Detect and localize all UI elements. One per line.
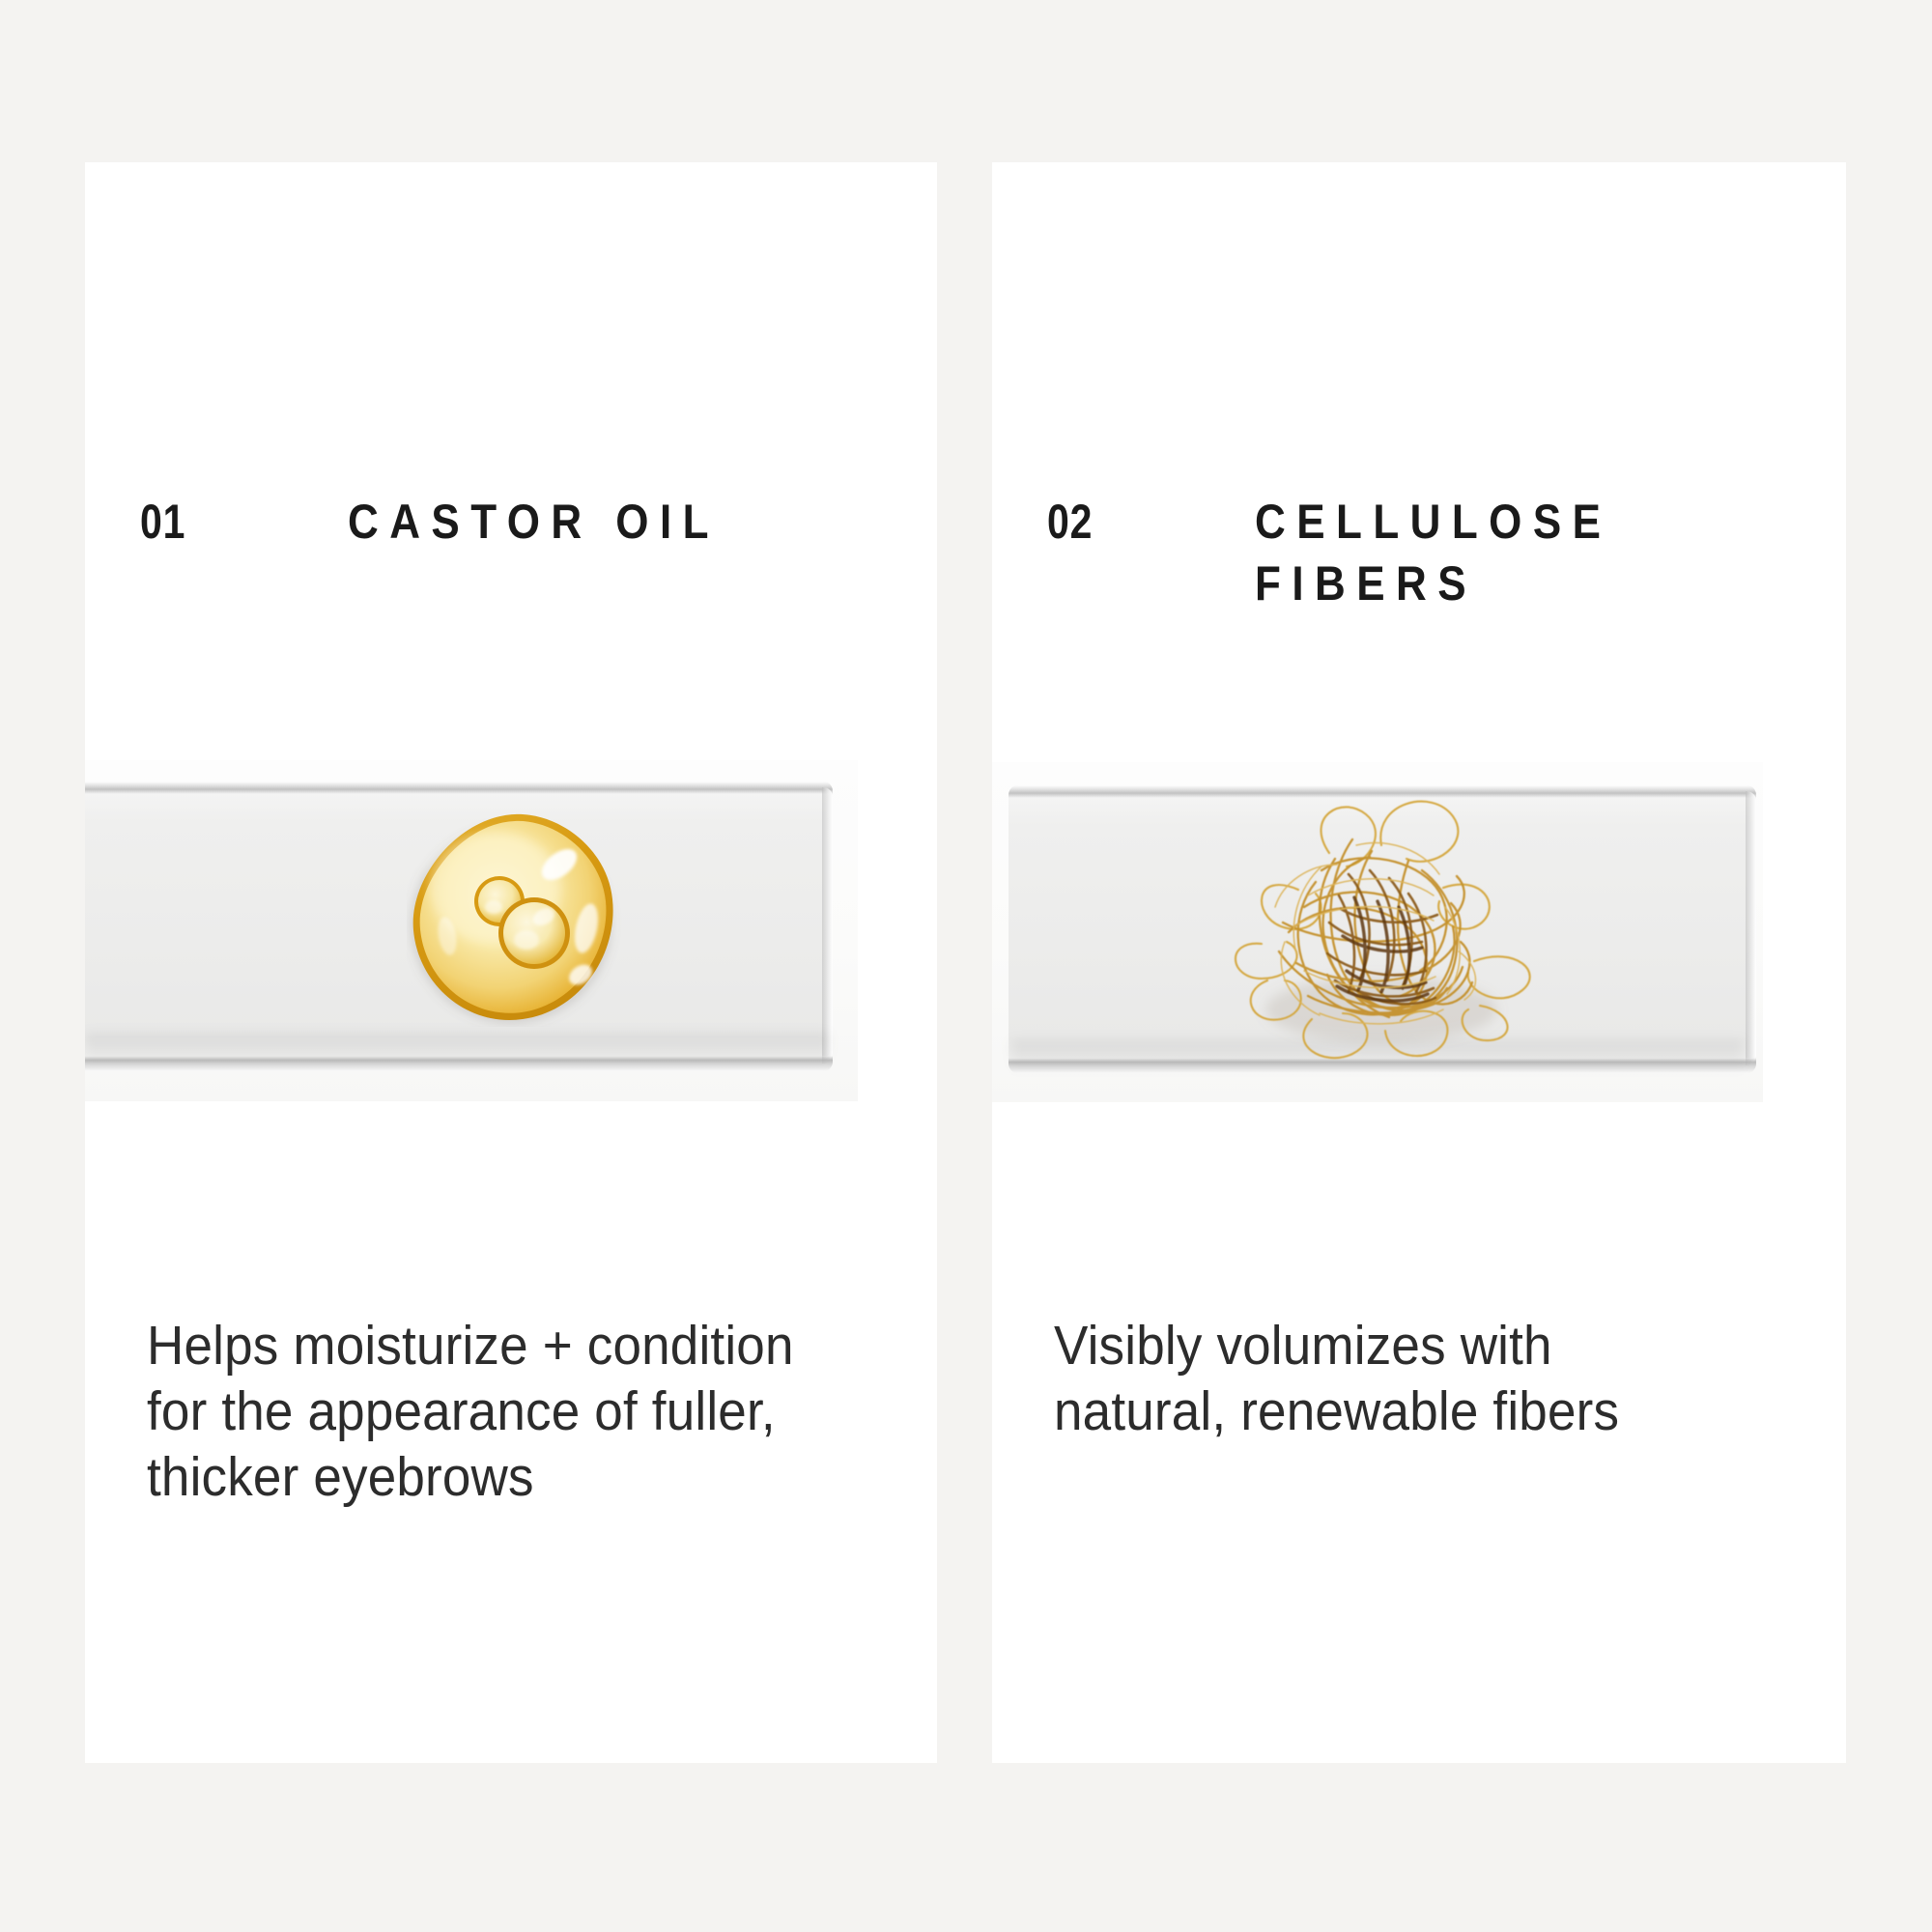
oil-droplet-svg [407, 809, 622, 1027]
card-heading: 02 CELLULOSE FIBERS [1047, 491, 1817, 614]
card-heading: 01 CASTOR OIL [140, 491, 908, 553]
ingredient-card-cellulose-fibers[interactable]: 02 CELLULOSE FIBERS [992, 162, 1846, 1763]
tile-top-bevel [85, 781, 833, 794]
ingredient-cards-page: 01 CASTOR OIL [0, 0, 1932, 1932]
card-description: Helps moisturize + condition for the app… [147, 1313, 860, 1510]
tile-right-edge [822, 787, 833, 1064]
card-title: CASTOR OIL [348, 491, 720, 553]
card-description: Visibly volumizes with natural, renewabl… [1054, 1313, 1769, 1444]
card-number: 01 [140, 491, 310, 553]
card-number: 02 [1047, 491, 1217, 553]
oil-bubble-large-highlight [514, 930, 539, 950]
castor-oil-droplet-photo [85, 760, 858, 1101]
card-title: CELLULOSE FIBERS [1255, 491, 1611, 614]
fiber-tangle-svg [1215, 781, 1544, 1071]
tile-drop-shadow [85, 1034, 829, 1066]
ingredient-card-castor-oil[interactable]: 01 CASTOR OIL [85, 162, 937, 1763]
cellulose-fiber-tangle-graphic [1215, 781, 1544, 1071]
oil-droplet-graphic [407, 809, 622, 1027]
tile-right-edge [1746, 791, 1756, 1065]
oil-bubble-small-highlight [485, 900, 502, 914]
cellulose-fibers-photo [992, 762, 1763, 1102]
